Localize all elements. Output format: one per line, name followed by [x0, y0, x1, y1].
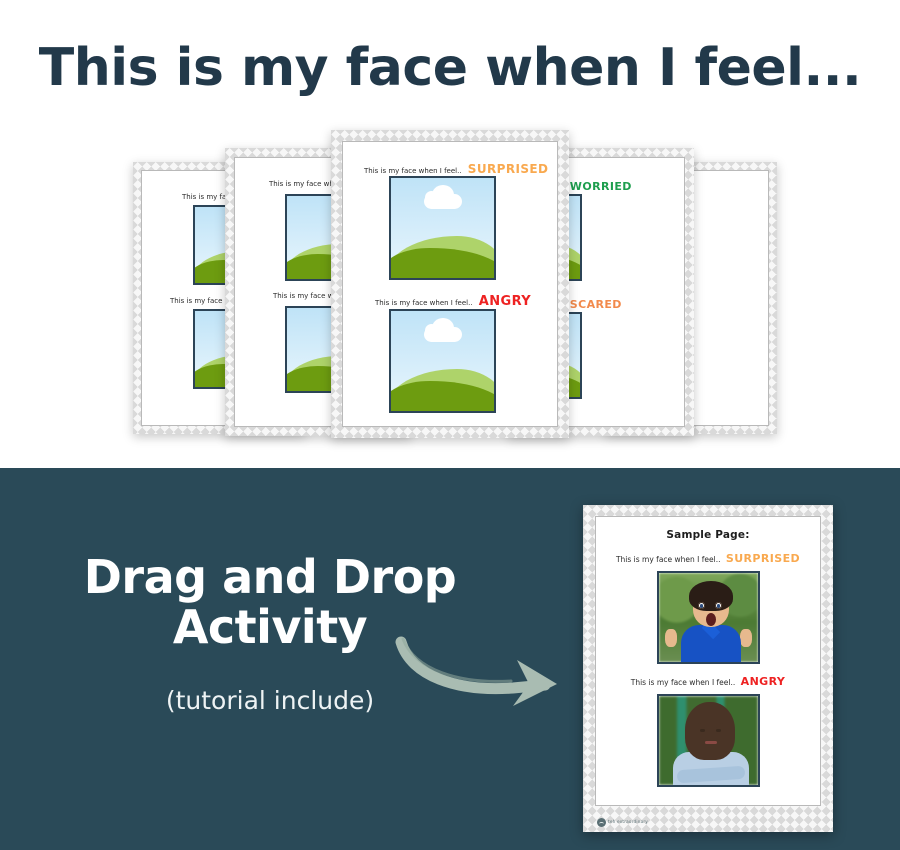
frown-mouth	[705, 741, 717, 744]
cloud-icon	[424, 194, 462, 209]
drag-drop-heading-line1: Drag and Drop	[20, 553, 520, 603]
emotion-label-surprised: SURPRISED	[726, 552, 800, 565]
card-row-label-surprised: This is my face when I feel.. SURPRISED	[364, 162, 548, 176]
sample-row-angry: This is my face when I feel.. ANGRY	[596, 675, 820, 688]
card-prompt: This is my face when I feel..	[375, 299, 473, 307]
card-prompt: This is my face when I feel..	[364, 167, 462, 175]
cloud-icon	[424, 327, 462, 342]
sample-prompt: This is my face when I feel..	[616, 555, 721, 564]
hand-right	[740, 629, 752, 647]
image-placeholder-2	[389, 309, 496, 413]
card-inner: This is my face when I feel.. SURPRISED …	[342, 141, 558, 427]
pupil-right	[717, 604, 721, 608]
brand-logo-text: teh extraordinary	[608, 820, 648, 825]
hair	[685, 702, 735, 760]
hair	[689, 581, 733, 611]
image-placeholder-1	[389, 176, 496, 280]
surprised-boy-photo	[657, 571, 760, 664]
emotion-label-worried: WORRIED	[570, 180, 632, 193]
pupil-left	[700, 604, 704, 608]
sample-page-card[interactable]: Sample Page: This is my face when I feel…	[583, 505, 833, 832]
hand-left	[665, 629, 677, 647]
sample-page-title: Sample Page:	[596, 529, 820, 541]
sample-page-inner: Sample Page: This is my face when I feel…	[595, 516, 821, 806]
top-section: This is my face when I feel... This is m…	[0, 0, 900, 468]
emotion-label-angry: ANGRY	[479, 294, 531, 309]
emotion-label-surprised: SURPRISED	[468, 162, 549, 176]
curved-brush-arrow-icon	[395, 630, 585, 710]
eye-left	[700, 729, 705, 732]
sample-row-surprised: This is my face when I feel.. SURPRISED	[596, 552, 820, 565]
emotion-label-scared: SCARED	[570, 298, 622, 311]
eye-right	[716, 729, 721, 732]
sample-prompt: This is my face when I feel..	[631, 678, 736, 687]
emotion-label-angry: ANGRY	[741, 675, 786, 688]
card-row-label-angry: This is my face when I feel.. ANGRY	[375, 294, 531, 309]
brand-logo: teh extraordinary	[597, 818, 648, 827]
angry-girl-photo	[657, 694, 760, 787]
rainbow-logo-icon	[597, 818, 606, 827]
card-stack: This is my face when I feel.. This is my…	[0, 0, 900, 468]
open-mouth	[706, 613, 716, 626]
page-card-front[interactable]: This is my face when I feel.. SURPRISED …	[331, 130, 569, 438]
